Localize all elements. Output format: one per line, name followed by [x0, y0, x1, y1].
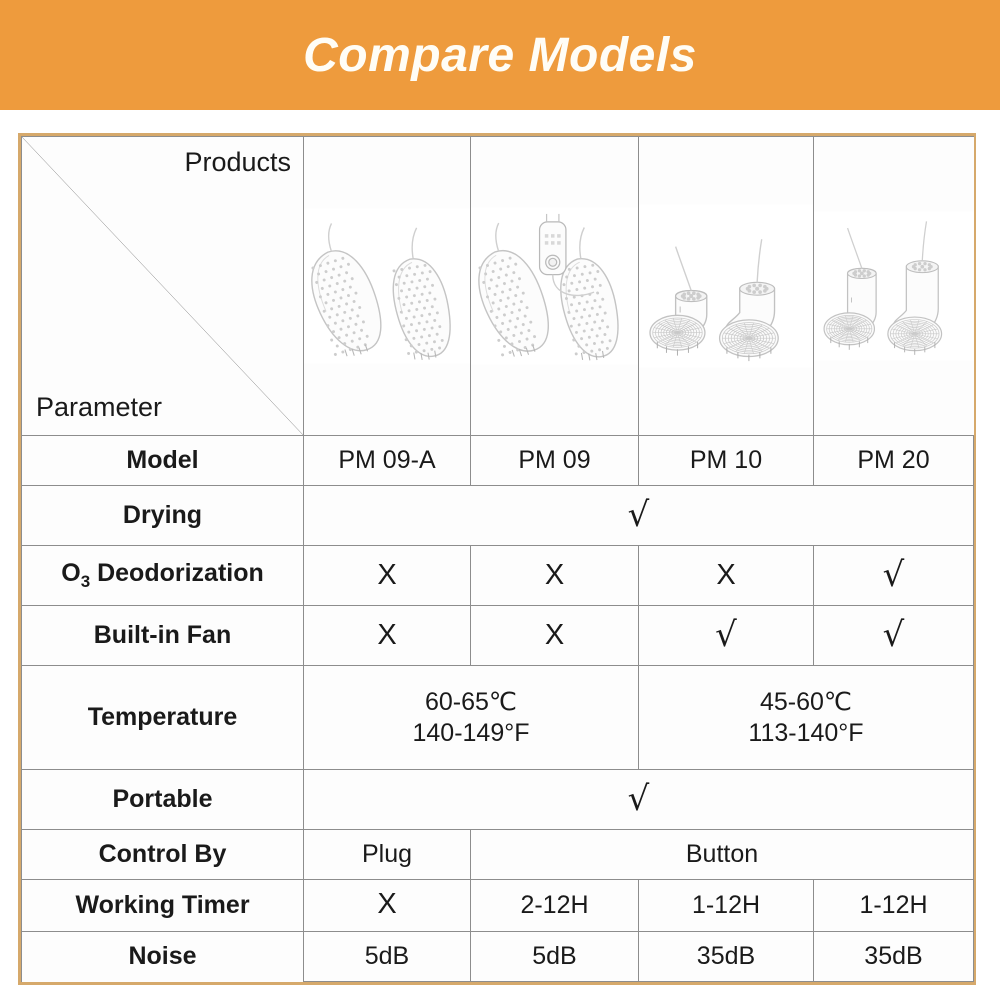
product-image-cell-2: [471, 137, 639, 436]
cell-o3-deodorization-2: X: [471, 546, 639, 606]
cell-model-4: PM 20: [814, 435, 974, 485]
check-icon: √: [628, 495, 650, 535]
product-pm09-illustration: [471, 197, 638, 375]
check-icon: √: [883, 615, 905, 655]
comparison-table-container: Products Parameter: [18, 133, 976, 985]
comparison-table: Products Parameter: [21, 136, 974, 982]
cell-drying-1: √: [304, 486, 974, 546]
cell-working-timer-3: 1-12H: [639, 880, 814, 932]
cross-icon: X: [377, 619, 396, 651]
product-image-cell-3: |: [639, 137, 814, 436]
product-pm09a-illustration: [304, 197, 470, 375]
product-image-cell-1: [304, 137, 471, 436]
cell-control-by-1: Plug: [304, 829, 471, 879]
cell-o3-deodorization-3: X: [639, 546, 814, 606]
cell-model-3: PM 10: [639, 435, 814, 485]
cell-built-in-fan-4: √: [814, 606, 974, 666]
table-row: ModelPM 09-APM 09PM 10PM 20: [22, 435, 974, 485]
product-pm20-illustration: |: [814, 197, 974, 375]
table-row: Portable√: [22, 769, 974, 829]
table-row: Working TimerX2-12H1-12H1-12H: [22, 880, 974, 932]
cross-icon: X: [377, 888, 396, 920]
parameter-axis-label: Parameter: [36, 392, 162, 423]
table-header-row: Products Parameter: [22, 137, 974, 436]
parameter-label-noise: Noise: [22, 931, 304, 981]
parameter-label-built-in-fan: Built-in Fan: [22, 606, 304, 666]
cell-model-2: PM 09: [471, 435, 639, 485]
svg-text:|: |: [851, 297, 853, 303]
cell-o3-deodorization-4: √: [814, 546, 974, 606]
cell-o3-deodorization-1: X: [304, 546, 471, 606]
cross-icon: X: [545, 559, 564, 591]
cross-icon: X: [716, 559, 735, 591]
corner-header-cell: Products Parameter: [22, 137, 304, 436]
parameter-label-model: Model: [22, 435, 304, 485]
cell-temperature-2: 45-60℃113-140°F: [639, 666, 974, 770]
check-icon: √: [715, 615, 737, 655]
products-axis-label: Products: [184, 147, 291, 178]
table-row: Control ByPlugButton: [22, 829, 974, 879]
diagonal-divider-line: [22, 137, 303, 435]
cell-noise-4: 35dB: [814, 931, 974, 981]
parameter-label-temperature: Temperature: [22, 666, 304, 770]
cross-icon: X: [377, 559, 396, 591]
table-row: Built-in FanXX√√: [22, 606, 974, 666]
parameter-label-control-by: Control By: [22, 829, 304, 879]
parameter-label-o3-deodorization: O3 Deodorization: [22, 546, 304, 606]
table-row: Drying√: [22, 486, 974, 546]
table-row: Noise5dB5dB35dB35dB: [22, 931, 974, 981]
cell-built-in-fan-3: √: [639, 606, 814, 666]
cell-built-in-fan-1: X: [304, 606, 471, 666]
cell-noise-2: 5dB: [471, 931, 639, 981]
page-header-band: Compare Models: [0, 0, 1000, 110]
cell-noise-1: 5dB: [304, 931, 471, 981]
table-row: Temperature60-65℃140-149°F45-60℃113-140°…: [22, 666, 974, 770]
temperature-celsius: 60-65℃: [304, 687, 638, 718]
temperature-celsius: 45-60℃: [639, 687, 973, 718]
parameter-label-working-timer: Working Timer: [22, 880, 304, 932]
cell-temperature-1: 60-65℃140-149°F: [304, 666, 639, 770]
cell-noise-3: 35dB: [639, 931, 814, 981]
temperature-fahrenheit: 140-149°F: [304, 718, 638, 749]
temperature-fahrenheit: 113-140°F: [639, 718, 973, 749]
cell-built-in-fan-2: X: [471, 606, 639, 666]
product-pm10-illustration: |: [639, 197, 813, 375]
cell-control-by-2: Button: [471, 829, 974, 879]
cell-portable-1: √: [304, 769, 974, 829]
page-title: Compare Models: [303, 28, 697, 83]
cell-working-timer-4: 1-12H: [814, 880, 974, 932]
check-icon: √: [883, 555, 905, 595]
table-row: O3 DeodorizationXXX√: [22, 546, 974, 606]
cross-icon: X: [545, 619, 564, 651]
cell-model-1: PM 09-A: [304, 435, 471, 485]
check-icon: √: [628, 779, 650, 819]
product-image-cell-4: |: [814, 137, 974, 436]
cell-working-timer-2: 2-12H: [471, 880, 639, 932]
parameter-label-drying: Drying: [22, 486, 304, 546]
cell-working-timer-1: X: [304, 880, 471, 932]
parameter-label-portable: Portable: [22, 769, 304, 829]
